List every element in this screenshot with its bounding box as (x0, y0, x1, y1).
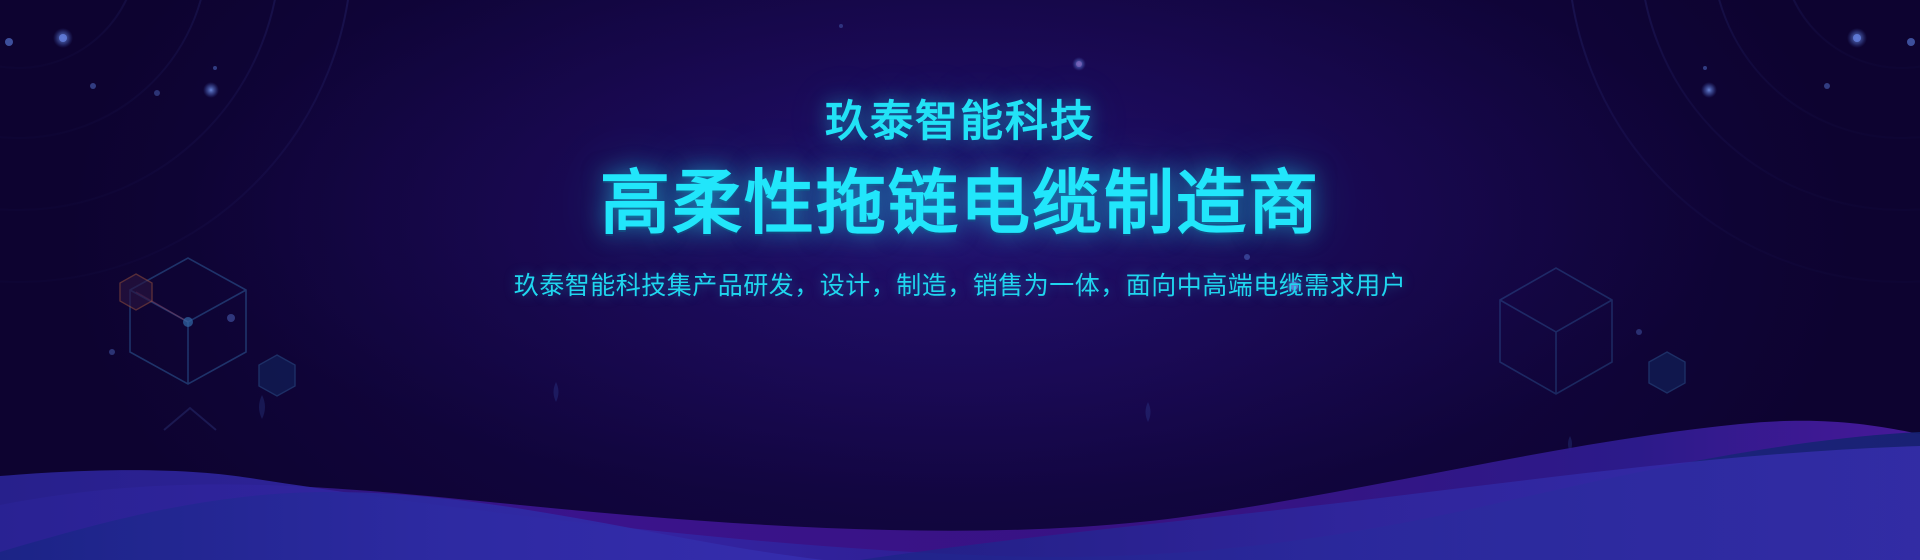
left-cube-center-node (183, 317, 193, 327)
chevron-decor-group (164, 408, 1584, 560)
hero-text-block: 玖泰智能科技 高柔性拖链电缆制造商 玖泰智能科技集产品研发，设计，制造，销售为一… (0, 0, 1920, 299)
hero-subtitle: 玖泰智能科技集产品研发，设计，制造，销售为一体，面向中高端电缆需求用户 (0, 238, 1920, 299)
wave-front (0, 492, 1000, 560)
wave-mid (0, 432, 1920, 560)
hero-headline: 高柔性拖链电缆制造商 (0, 144, 1920, 238)
wave-front-right (860, 446, 1920, 560)
hexagon-decor-group (259, 352, 1685, 396)
hero-eyebrow: 玖泰智能科技 (0, 0, 1920, 144)
hero-banner: 玖泰智能科技 高柔性拖链电缆制造商 玖泰智能科技集产品研发，设计，制造，销售为一… (0, 0, 1920, 560)
spark-decor-group (259, 382, 1572, 452)
wave-back (0, 421, 1920, 560)
